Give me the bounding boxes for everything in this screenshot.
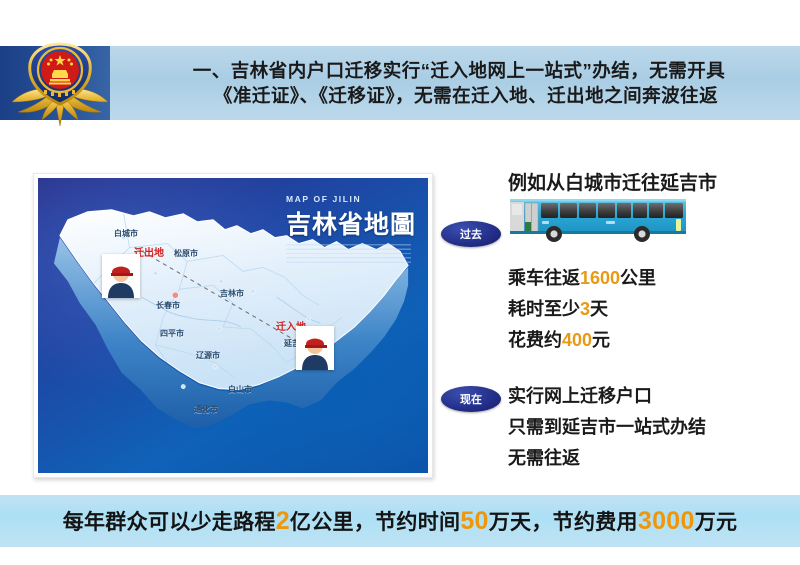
map-title: MAP OF JILIN 吉林省地圖: [286, 194, 416, 266]
city-label-liaoyuan: 辽源市: [196, 350, 220, 361]
past-line-distance-pre: 乘车往返: [508, 268, 580, 288]
city-label-jilin: 吉林市: [220, 288, 244, 299]
now-line-2: 只需到延吉市一站式办结: [508, 413, 706, 439]
police-badge-icon: [8, 38, 112, 128]
footer-number-days: 50: [460, 507, 488, 535]
map-title-en: MAP OF JILIN: [286, 194, 416, 204]
past-line-distance-num: 1600: [580, 268, 620, 288]
now-line-1: 实行网上迁移户口: [508, 382, 652, 408]
slide-root: 一、吉林省内户口迁移实行“迁入地网上一站式”办结，无需开具 《准迁证》、《迁移证…: [0, 0, 800, 565]
header-title-block: 一、吉林省内户口迁移实行“迁入地网上一站式”办结，无需开具 《准迁证》、《迁移证…: [118, 48, 800, 120]
map-canvas: MAP OF JILIN 吉林省地圖 白城市 松原市 长春市 吉林市 四平市 辽…: [38, 178, 428, 473]
badge-now: 现在: [441, 386, 501, 412]
footer-part-2: 亿公里，节约时间: [290, 511, 460, 534]
map-title-cn: 吉林省地圖: [286, 205, 416, 241]
city-label-changchun: 长春市: [156, 300, 180, 311]
city-label-baicheng: 白城市: [114, 228, 138, 239]
footer-text: 每年群众可以少走路程2亿公里，节约时间50万天，节约费用3000万元: [63, 506, 738, 536]
map-title-blurb: [286, 244, 411, 266]
footer-number-cost: 3000: [638, 507, 695, 535]
city-label-siping: 四平市: [160, 328, 184, 339]
bus-icon: [506, 195, 691, 245]
jilin-map-card: MAP OF JILIN 吉林省地圖 白城市 松原市 长春市 吉林市 四平市 辽…: [33, 173, 433, 478]
city-label-songyuan: 松原市: [174, 248, 198, 259]
city-label-tonghua: 通化市: [194, 404, 218, 415]
past-line-cost-post: 元: [592, 330, 610, 350]
past-line-time-num: 3: [580, 299, 590, 319]
badge-past: 过去: [441, 221, 501, 247]
past-line-distance-post: 公里: [620, 268, 656, 288]
past-line-time-pre: 耗时至少: [508, 299, 580, 319]
past-line-cost-pre: 花费约: [508, 330, 562, 350]
destination-person-avatar: [296, 326, 334, 370]
now-line-3: 无需往返: [508, 444, 580, 470]
past-line-distance: 乘车往返1600公里: [508, 264, 656, 290]
past-line-cost: 花费约400元: [508, 326, 610, 352]
example-title: 例如从白城市迁往延吉市: [508, 168, 717, 195]
past-line-time: 耗时至少3天: [508, 295, 608, 321]
footer-number-distance: 2: [276, 507, 290, 535]
header-line-2: 《准迁证》、《迁移证》，无需在迁入地、迁出地之间奔波往返: [200, 84, 718, 109]
origin-person-avatar: [102, 254, 140, 298]
header: 一、吉林省内户口迁移实行“迁入地网上一站式”办结，无需开具 《准迁证》、《迁移证…: [0, 38, 800, 128]
past-line-time-post: 天: [590, 299, 608, 319]
footer-part-3: 万天，节约费用: [489, 511, 638, 534]
footer-banner: 每年群众可以少走路程2亿公里，节约时间50万天，节约费用3000万元: [0, 495, 800, 547]
footer-part-1: 每年群众可以少走路程: [63, 511, 276, 534]
header-line-1: 一、吉林省内户口迁移实行“迁入地网上一站式”办结，无需开具: [193, 59, 726, 84]
past-line-cost-num: 400: [562, 330, 592, 350]
footer-part-4: 万元: [695, 511, 738, 534]
city-label-baishan: 白山市: [228, 384, 252, 395]
